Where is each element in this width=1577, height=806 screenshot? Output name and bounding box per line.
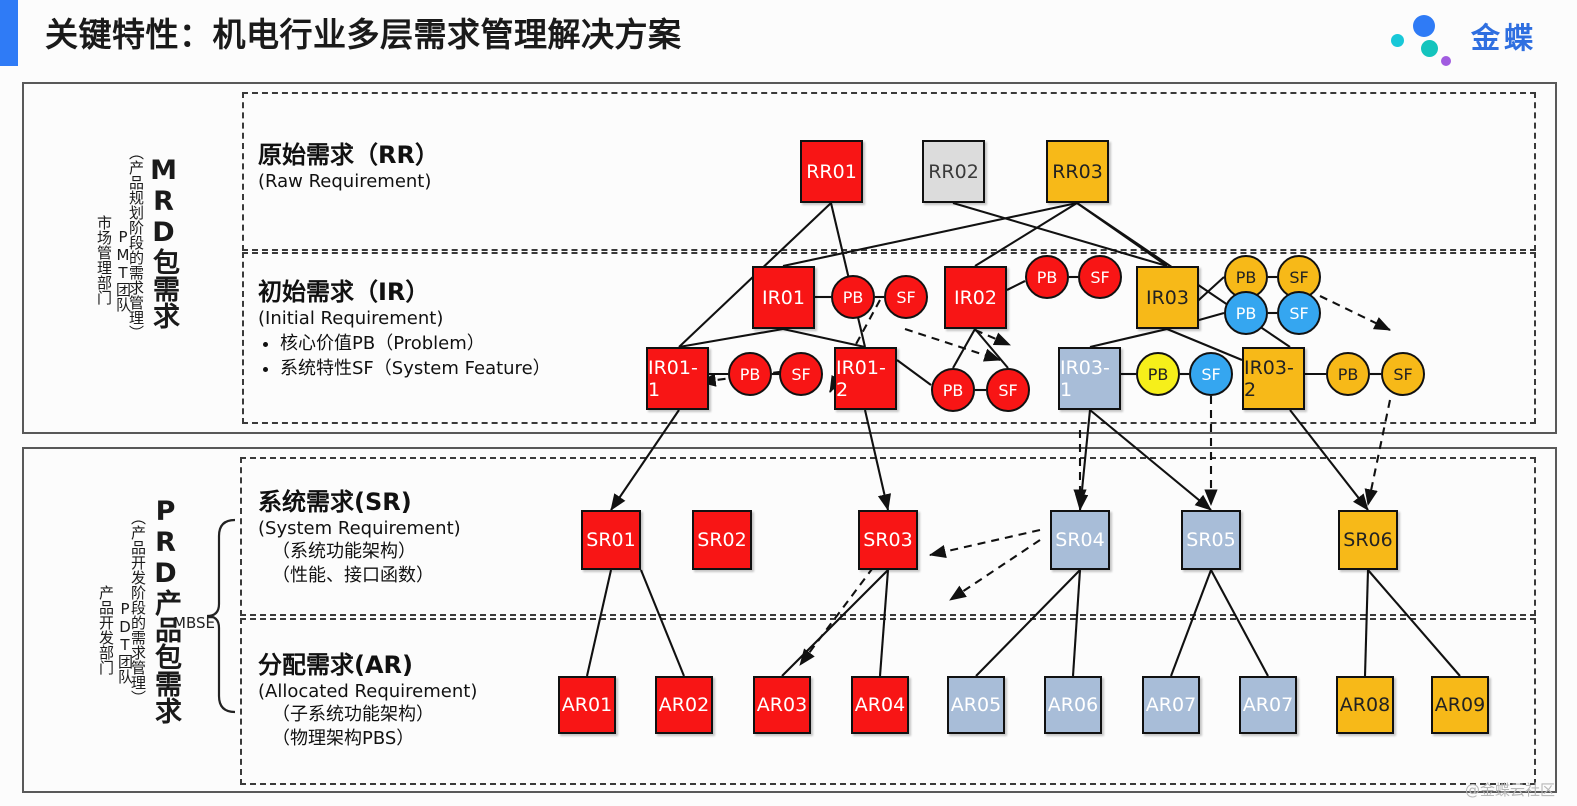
- badge-label: SF: [1201, 365, 1220, 384]
- node-ar02[interactable]: AR02: [655, 676, 713, 734]
- node-label: RR03: [1052, 161, 1103, 183]
- node-label: SR04: [1055, 529, 1104, 551]
- badge-label: PB: [1338, 365, 1359, 384]
- badge-sf[interactable]: SF: [1078, 255, 1122, 299]
- node-ir03[interactable]: IR03: [1136, 266, 1199, 329]
- node-label: IR01-2: [836, 357, 895, 401]
- node-ar03[interactable]: AR03: [753, 676, 811, 734]
- node-label: SR01: [586, 529, 635, 551]
- node-ar04[interactable]: AR04: [851, 676, 909, 734]
- node-ir02[interactable]: IR02: [944, 266, 1007, 329]
- node-label: AR07: [1146, 694, 1196, 716]
- node-label: SR02: [697, 529, 746, 551]
- badge-label: PB: [1236, 304, 1257, 323]
- node-label: AR04: [855, 694, 905, 716]
- badge-sf[interactable]: SF: [986, 368, 1030, 412]
- node-sr02[interactable]: SR02: [692, 510, 752, 570]
- node-label: AR06: [1048, 694, 1098, 716]
- node-label: IR01: [762, 287, 805, 309]
- badge-label: SF: [1289, 268, 1308, 287]
- badge-pb[interactable]: PB: [931, 368, 975, 412]
- mbse-brace: [205, 516, 275, 716]
- badge-pb[interactable]: PB: [1025, 255, 1069, 299]
- badge-sf[interactable]: SF: [1277, 291, 1321, 335]
- badge-label: PB: [740, 365, 761, 384]
- node-sr06[interactable]: SR06: [1338, 510, 1398, 570]
- node-label: AR03: [757, 694, 807, 716]
- badge-label: PB: [1236, 268, 1257, 287]
- badge-label: PB: [943, 381, 964, 400]
- badge-label: SF: [1090, 268, 1109, 287]
- node-label: AR08: [1340, 694, 1390, 716]
- node-label: IR03-2: [1244, 357, 1303, 401]
- node-label: IR03: [1146, 287, 1189, 309]
- node-label: AR01: [562, 694, 612, 716]
- node-label: RR02: [928, 161, 979, 183]
- node-ir01-2[interactable]: IR01-2: [834, 347, 897, 410]
- node-label: IR01-1: [648, 357, 707, 401]
- node-label: RR01: [806, 161, 857, 183]
- node-ir03-2[interactable]: IR03-2: [1242, 347, 1305, 410]
- node-sr01[interactable]: SR01: [581, 510, 641, 570]
- badge-sf[interactable]: SF: [884, 275, 928, 319]
- badge-label: SF: [896, 288, 915, 307]
- node-ar07[interactable]: AR07: [1239, 676, 1297, 734]
- node-ar07[interactable]: AR07: [1142, 676, 1200, 734]
- node-label: AR07: [1243, 694, 1293, 716]
- badge-pb[interactable]: PB: [831, 275, 875, 319]
- badge-label: PB: [843, 288, 864, 307]
- node-ir01[interactable]: IR01: [752, 266, 815, 329]
- node-ar01[interactable]: AR01: [558, 676, 616, 734]
- node-rr01[interactable]: RR01: [800, 140, 863, 203]
- badge-label: SF: [998, 381, 1017, 400]
- node-ar09[interactable]: AR09: [1431, 676, 1489, 734]
- badge-pb[interactable]: PB: [1326, 352, 1370, 396]
- node-label: SR03: [863, 529, 912, 551]
- node-label: AR05: [951, 694, 1001, 716]
- badge-pb[interactable]: PB: [1136, 352, 1180, 396]
- node-sr05[interactable]: SR05: [1181, 510, 1241, 570]
- badge-sf[interactable]: SF: [779, 352, 823, 396]
- watermark: @金蝶云社区: [1465, 779, 1555, 800]
- badge-label: PB: [1148, 365, 1169, 384]
- badge-sf[interactable]: SF: [1189, 352, 1233, 396]
- node-rr03[interactable]: RR03: [1046, 140, 1109, 203]
- badge-label: SF: [1393, 365, 1412, 384]
- badge-label: PB: [1037, 268, 1058, 287]
- node-ir03-1[interactable]: IR03-1: [1058, 347, 1121, 410]
- node-rr02[interactable]: RR02: [922, 140, 985, 203]
- badge-pb[interactable]: PB: [728, 352, 772, 396]
- node-label: IR03-1: [1060, 357, 1119, 401]
- badge-pb[interactable]: PB: [1224, 291, 1268, 335]
- node-ir01-1[interactable]: IR01-1: [646, 347, 709, 410]
- node-label: SR05: [1186, 529, 1235, 551]
- node-ar06[interactable]: AR06: [1044, 676, 1102, 734]
- node-ar08[interactable]: AR08: [1336, 676, 1394, 734]
- node-sr04[interactable]: SR04: [1050, 510, 1110, 570]
- node-sr03[interactable]: SR03: [858, 510, 918, 570]
- node-label: AR02: [659, 694, 709, 716]
- badge-label: SF: [1289, 304, 1308, 323]
- node-label: SR06: [1343, 529, 1392, 551]
- badge-sf[interactable]: SF: [1381, 352, 1425, 396]
- badge-label: SF: [791, 365, 810, 384]
- node-ar05[interactable]: AR05: [947, 676, 1005, 734]
- node-label: IR02: [954, 287, 997, 309]
- node-label: AR09: [1435, 694, 1485, 716]
